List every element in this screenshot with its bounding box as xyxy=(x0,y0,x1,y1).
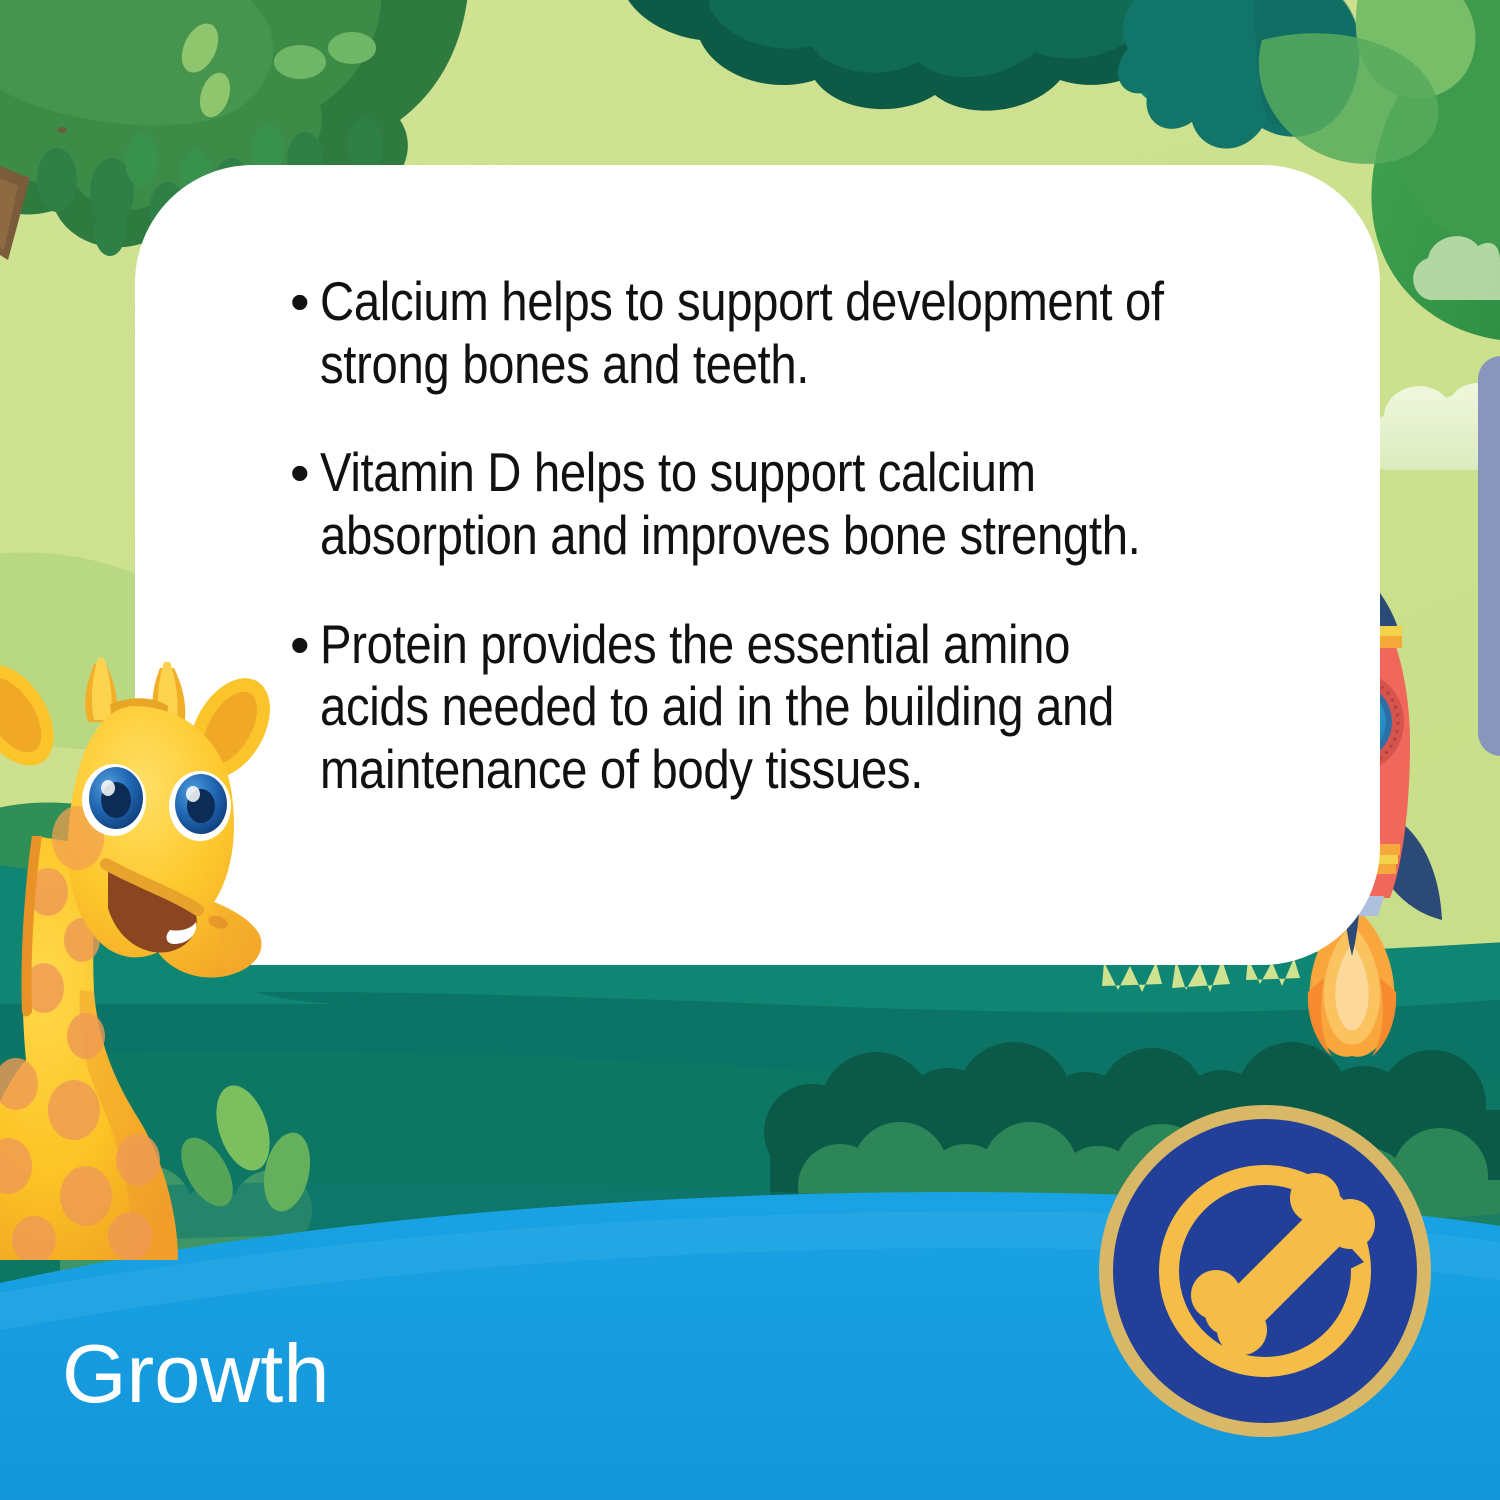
bullet-item: • Protein provides the essential amino a… xyxy=(290,613,1320,801)
bullet-item: • Calcium helps to support development o… xyxy=(290,270,1320,395)
bone-in-circle-badge-icon xyxy=(1096,1102,1434,1440)
bullet-text: Protein provides the essential amino aci… xyxy=(320,613,1180,801)
giraffe-eye-left xyxy=(82,764,146,836)
bullet-list: • Calcium helps to support development o… xyxy=(290,270,1320,801)
right-edge-tab xyxy=(1478,356,1500,756)
bullet-marker: • xyxy=(290,270,320,334)
bullet-item: • Vitamin D helps to support calcium abs… xyxy=(290,441,1320,566)
bullet-marker: • xyxy=(290,613,320,677)
page-title: Growth xyxy=(62,1332,330,1415)
bullet-text: Calcium helps to support development of … xyxy=(320,270,1180,395)
poster-canvas: • Calcium helps to support development o… xyxy=(0,0,1500,1500)
bullet-text: Vitamin D helps to support calcium absor… xyxy=(320,441,1180,566)
giraffe-eye-right xyxy=(169,771,231,841)
giraffe-character-icon xyxy=(0,640,282,1260)
bullet-marker: • xyxy=(290,441,320,505)
